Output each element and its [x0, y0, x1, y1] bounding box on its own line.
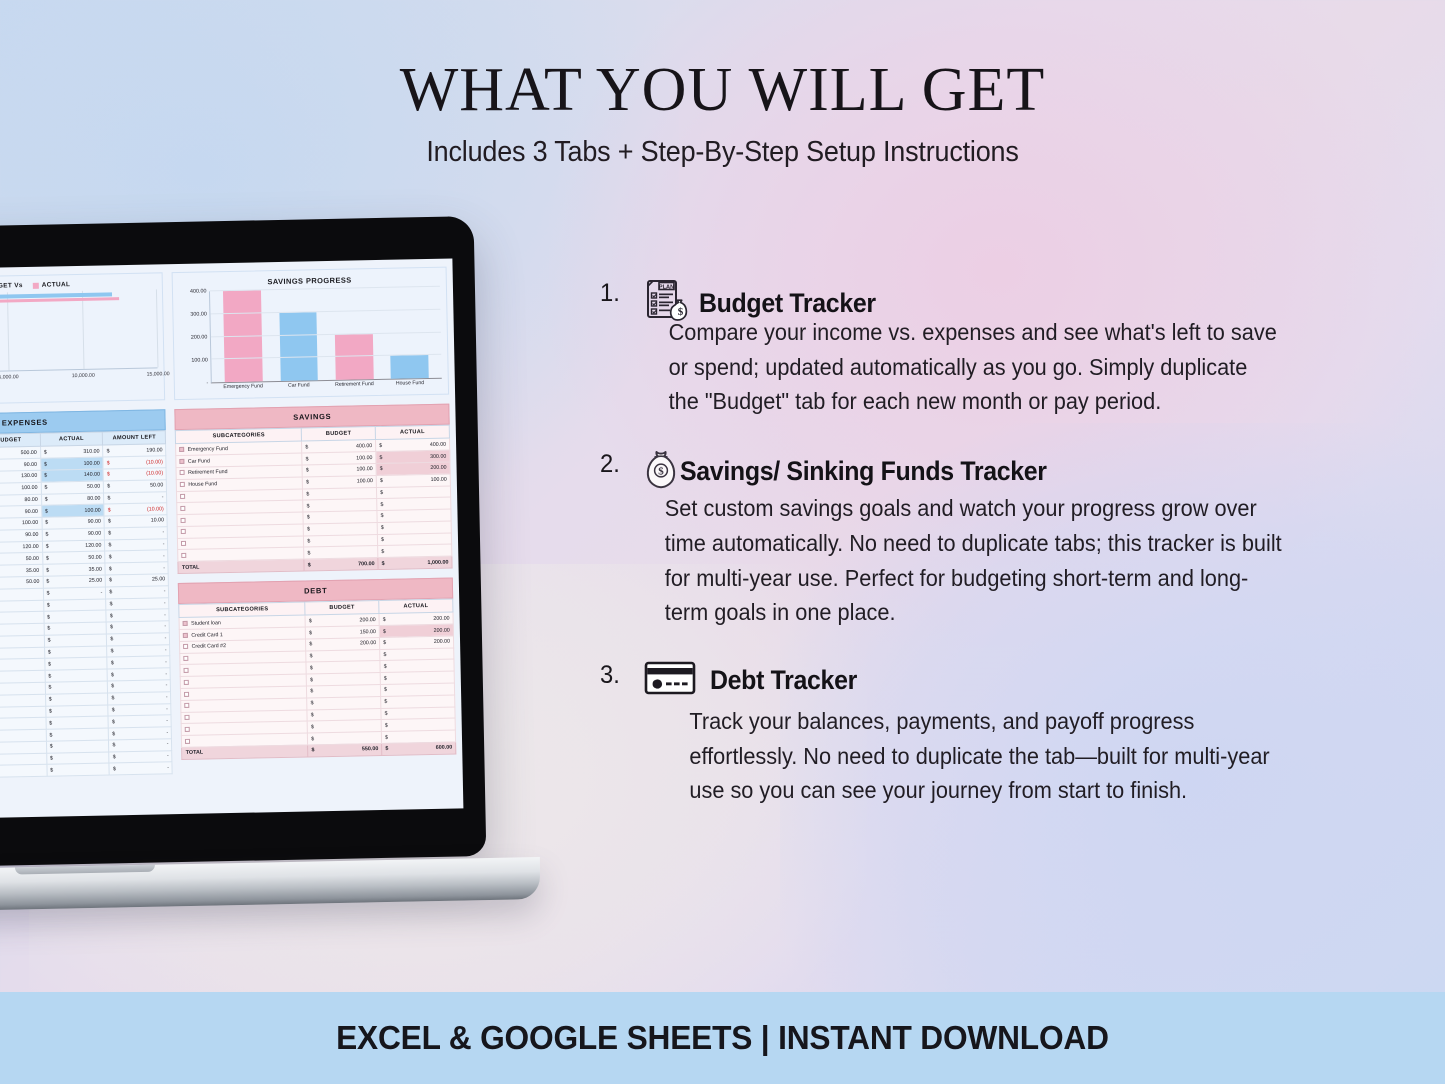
table-row[interactable]: $$$-: [0, 762, 173, 779]
savings-progress-chart: SAVINGS PROGRESS -100.00200.00300.00400.…: [172, 267, 449, 400]
credit-card-icon: [644, 660, 696, 701]
svg-text:$: $: [658, 466, 664, 478]
laptop-mockup: BUDGET Vs ACTUAL Total IncomeBillsExpens…: [0, 222, 580, 922]
feature-item-debt-tracker: 3. Debt Tracker Track your balances,: [600, 660, 1320, 808]
checkbox-icon[interactable]: [183, 632, 188, 637]
savings-table[interactable]: SUBCATEGORIESBUDGETACTUAL Emergency Fund…: [175, 425, 452, 574]
checkbox-icon[interactable]: [184, 656, 189, 661]
vbar-ytick-0: -: [206, 380, 208, 386]
feature-description-3: Track your balances, payments, and payof…: [644, 704, 1283, 808]
expenses-col-3: AMOUNT LEFT: [103, 431, 166, 446]
budget-vs-actual-chart: BUDGET Vs ACTUAL Total IncomeBillsExpens…: [0, 272, 166, 406]
checkbox-icon[interactable]: [180, 494, 185, 499]
checkbox-icon[interactable]: [183, 621, 188, 626]
vbar-xlabel-0: Emergency Fund: [219, 384, 268, 391]
legend-swatch-actual: [33, 282, 39, 288]
checkbox-icon[interactable]: [181, 506, 186, 511]
laptop-screen-display: BUDGET Vs ACTUAL Total IncomeBillsExpens…: [0, 258, 463, 819]
debt-table[interactable]: SUBCATEGORIESBUDGETACTUAL Student loan$2…: [179, 598, 457, 759]
spreadsheet-view: BUDGET Vs ACTUAL Total IncomeBillsExpens…: [0, 258, 463, 819]
legend-label-budget: BUDGET Vs: [0, 282, 23, 290]
savings-debt-column: SAVINGS SUBCATEGORIESBUDGETACTUAL Emerge…: [175, 404, 457, 775]
svg-text:PLAN: PLAN: [659, 284, 674, 290]
debt-total-budget[interactable]: $550.00: [308, 743, 382, 756]
debt-table-body[interactable]: Student loan$200.00$200.00Credit Card 1$…: [179, 612, 455, 747]
expenses-col-2: ACTUAL: [40, 432, 103, 447]
checkbox-icon[interactable]: [184, 680, 189, 685]
expenses-table[interactable]: SUBCATEGORIESBUDGETACTUALAMOUNT LEFT Gro…: [0, 430, 173, 780]
vbar-y-axis: -100.00200.00300.00400.00: [179, 291, 211, 384]
checkbox-icon[interactable]: [184, 644, 189, 649]
expenses-table-block[interactable]: EXPENSES SUBCATEGORIESBUDGETACTUALAMOUNT…: [0, 409, 173, 780]
vbar-xlabel-1: Car Fund: [274, 383, 323, 390]
debt-total-label: TOTAL: [182, 745, 308, 759]
checkbox-icon[interactable]: [181, 541, 186, 546]
hbar-chart-body: Total IncomeBillsExpensesDebtSavingsInve…: [0, 289, 158, 384]
checkbox-icon[interactable]: [181, 517, 186, 522]
money-bag-icon: $: [644, 449, 678, 494]
checkbox-icon[interactable]: [184, 691, 189, 696]
feature-number-1: 1.: [600, 278, 642, 419]
checkbox-icon[interactable]: [180, 482, 185, 487]
footer-banner: EXCEL & GOOGLE SHEETS | INSTANT DOWNLOAD: [0, 992, 1445, 1084]
vbar-xlabel-2: Retirement Fund: [330, 382, 379, 389]
checkbox-icon[interactable]: [185, 703, 190, 708]
feature-title-3: Debt Tracker: [710, 665, 857, 696]
checkbox-icon[interactable]: [180, 470, 185, 475]
laptop-base: [0, 857, 540, 913]
expenses-budget-27[interactable]: $: [0, 765, 47, 778]
vbar-ytick-3: 300.00: [190, 311, 207, 317]
vbar-plot-area: [209, 287, 441, 384]
checkbox-icon[interactable]: [180, 459, 185, 464]
legend-item-budget: BUDGET Vs: [0, 282, 23, 290]
vbar-xlabel-3: House Fund: [385, 381, 434, 388]
savings-table-body[interactable]: Emergency Fund$400.00$400.00Car Fund$100…: [176, 438, 452, 561]
checkbox-icon[interactable]: [184, 668, 189, 673]
vbar-column-1: [279, 312, 318, 381]
footer-text: EXCEL & GOOGLE SHEETS | INSTANT DOWNLOAD: [336, 1019, 1109, 1057]
hbar-xtick-1: 5,000.00: [0, 374, 19, 380]
debt-table-block[interactable]: DEBT SUBCATEGORIESBUDGETACTUAL Student l…: [178, 578, 456, 760]
hbar-xtick-3: 15,000.00: [146, 371, 169, 377]
expenses-actual-27[interactable]: $: [47, 763, 110, 776]
feature-item-savings-tracker: 2. $ Savings/ Sinking Funds Tracker Set …: [600, 449, 1320, 630]
checkbox-icon[interactable]: [181, 529, 186, 534]
vbar-chart-body: -100.00200.00300.00400.00: [179, 287, 441, 384]
page-subtitle: Includes 3 Tabs + Step-By-Step Setup Ins…: [51, 136, 1395, 169]
legend-item-actual: ACTUAL: [33, 281, 71, 289]
page-header: WHAT YOU WILL GET Includes 3 Tabs + Step…: [0, 0, 1445, 169]
page-title: WHAT YOU WILL GET: [0, 58, 1445, 122]
feature-item-budget-tracker: 1. PLAN: [600, 278, 1320, 419]
vbar-column-3: [391, 355, 429, 379]
savings-total-actual[interactable]: $1,000.00: [378, 556, 452, 569]
hbar-plot-area: [0, 289, 158, 371]
laptop-screen-bezel: BUDGET Vs ACTUAL Total IncomeBillsExpens…: [0, 216, 486, 868]
feature-description-1: Compare your income vs. expenses and see…: [644, 315, 1283, 419]
legend-label-actual: ACTUAL: [42, 281, 71, 289]
expenses-table-body[interactable]: Groceries$500.00$310.00$190.00Transporta…: [0, 444, 173, 779]
checkbox-icon[interactable]: [185, 715, 190, 720]
feature-number-3: 3.: [600, 660, 642, 808]
savings-table-block[interactable]: SAVINGS SUBCATEGORIESBUDGETACTUAL Emerge…: [175, 404, 453, 574]
debt-total-actual[interactable]: $600.00: [382, 742, 456, 755]
vbar-ytick-2: 200.00: [191, 334, 208, 340]
checkbox-icon[interactable]: [180, 447, 185, 452]
feature-number-2: 2.: [600, 449, 642, 630]
laptop-base-notch: [15, 865, 155, 875]
expenses-col-1: BUDGET: [0, 433, 40, 448]
feature-list: 1. PLAN: [600, 278, 1320, 838]
checkbox-icon[interactable]: [185, 727, 190, 732]
checkbox-icon[interactable]: [182, 553, 187, 558]
vbar-ytick-1: 100.00: [191, 357, 208, 363]
feature-description-2: Set custom savings goals and watch your …: [644, 491, 1283, 630]
checkbox-icon[interactable]: [185, 738, 190, 743]
vbar-ytick-4: 400.00: [190, 288, 207, 294]
hbar-x-axis: -5,000.0010,000.0015,000.00: [0, 367, 158, 384]
feature-title-2: Savings/ Sinking Funds Tracker: [680, 456, 1047, 487]
hbar-xtick-2: 10,000.00: [72, 373, 95, 379]
savings-total-budget[interactable]: $700.00: [304, 558, 378, 571]
expenses-left-27[interactable]: $-: [109, 762, 172, 775]
